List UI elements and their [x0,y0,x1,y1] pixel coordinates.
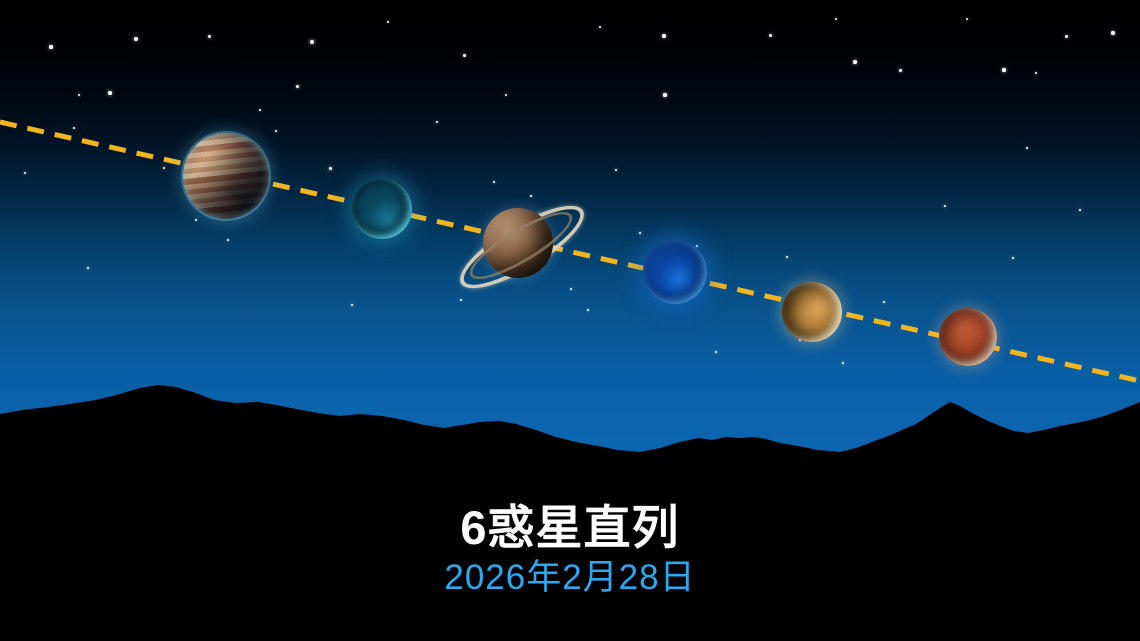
page-title: 6惑星直列 [0,490,1140,555]
planet-jupiter [183,133,269,219]
planet-neptune [643,240,707,304]
caption-panel: 6惑星直列 2026年2月28日 [0,490,1140,641]
page-subtitle-date: 2026年2月28日 [0,557,1140,599]
planet-uranus [352,179,412,239]
illustration-canvas: 6惑星直列 2026年2月28日 [0,0,1140,641]
planet-venus [782,282,842,342]
planet-saturn [483,208,553,278]
planet-mars [939,308,997,366]
